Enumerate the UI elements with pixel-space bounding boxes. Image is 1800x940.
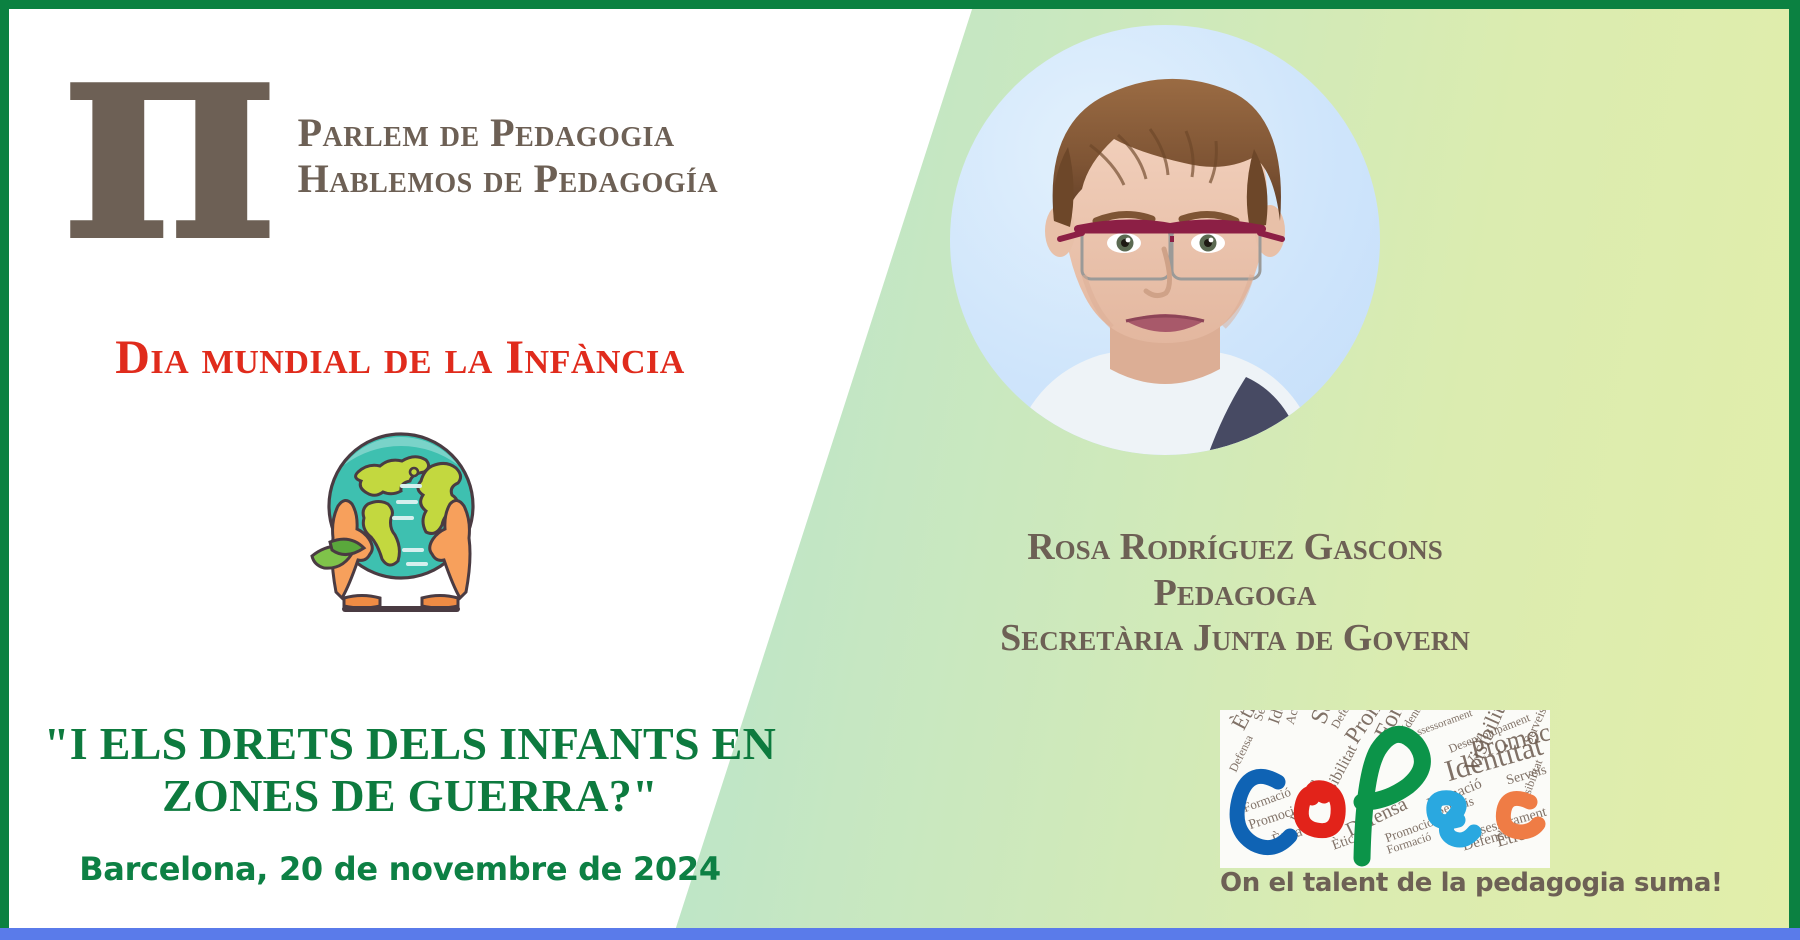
speaker-photo: [950, 25, 1380, 455]
event-date-location: Barcelona, 20 de novembre de 2024: [20, 850, 780, 888]
border-right: [1789, 0, 1800, 932]
poster-canvas: π Parlem de Pedagogia Hablemos de Pedago…: [0, 0, 1800, 940]
brand-line-catalan: Parlem de Pedagogia: [298, 110, 719, 156]
main-title-line-1: "I ELS DRETS DELS INFANTS EN: [44, 718, 776, 769]
copec-tagline: On el talent de la pedagogia suma!: [1220, 868, 1550, 898]
speaker-role: Pedagoga: [955, 571, 1515, 617]
left-column: π Parlem de Pedagogia Hablemos de Pedago…: [0, 0, 975, 940]
main-title-line-2: ZONES DE GUERRA?": [20, 770, 800, 822]
day-title: Dia mundial de la Infància: [0, 330, 800, 385]
main-title: "I ELS DRETS DELS INFANTS EN ZONES DE GU…: [20, 718, 800, 822]
hands-holding-globe-icon: [286, 420, 516, 620]
border-top: [0, 0, 1800, 9]
border-bottom: [0, 928, 1800, 940]
speaker-info: Rosa Rodríguez Gascons Pedagoga Secretàr…: [955, 525, 1515, 662]
copec-logo: Ètica Serveis Identitat Acompanyament Se…: [1220, 710, 1550, 915]
right-column: Rosa Rodríguez Gascons Pedagoga Secretàr…: [975, 0, 1800, 940]
speaker-name: Rosa Rodríguez Gascons: [955, 525, 1515, 571]
brand-line-spanish: Hablemos de Pedagogía: [298, 156, 719, 202]
brand-lockup: π Parlem de Pedagogia Hablemos de Pedago…: [60, 22, 718, 250]
copec-letterforms: [1220, 710, 1550, 868]
border-left: [0, 0, 9, 932]
avatar: [950, 25, 1380, 455]
speaker-position: Secretària Junta de Govern: [955, 616, 1515, 662]
brand-text-lines: Parlem de Pedagogia Hablemos de Pedagogí…: [298, 110, 719, 202]
pi-symbol-icon: π: [60, 16, 280, 250]
